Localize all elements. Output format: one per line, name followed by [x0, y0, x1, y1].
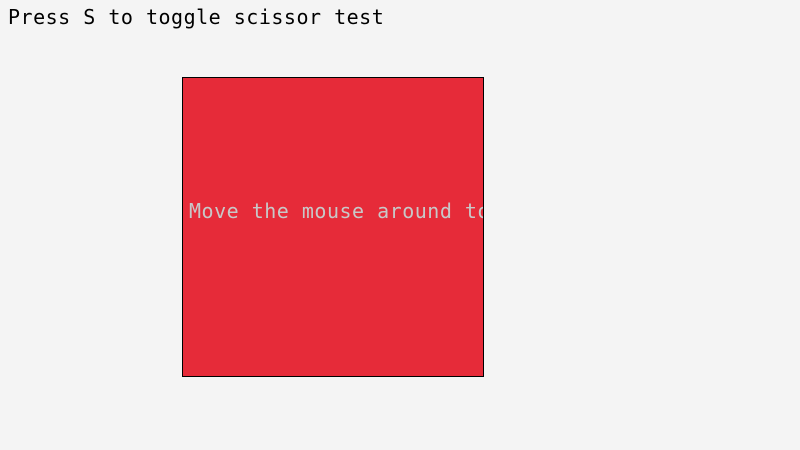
scissor-rectangle[interactable]: Move the mouse around to reveal this tex… — [182, 77, 484, 377]
app-canvas: Press S to toggle scissor test Move the … — [0, 0, 800, 450]
instruction-text: Press S to toggle scissor test — [8, 7, 384, 27]
clipped-message-text: Move the mouse around to reveal this tex… — [189, 201, 483, 221]
scissor-clip-region: Move the mouse around to reveal this tex… — [183, 78, 483, 376]
